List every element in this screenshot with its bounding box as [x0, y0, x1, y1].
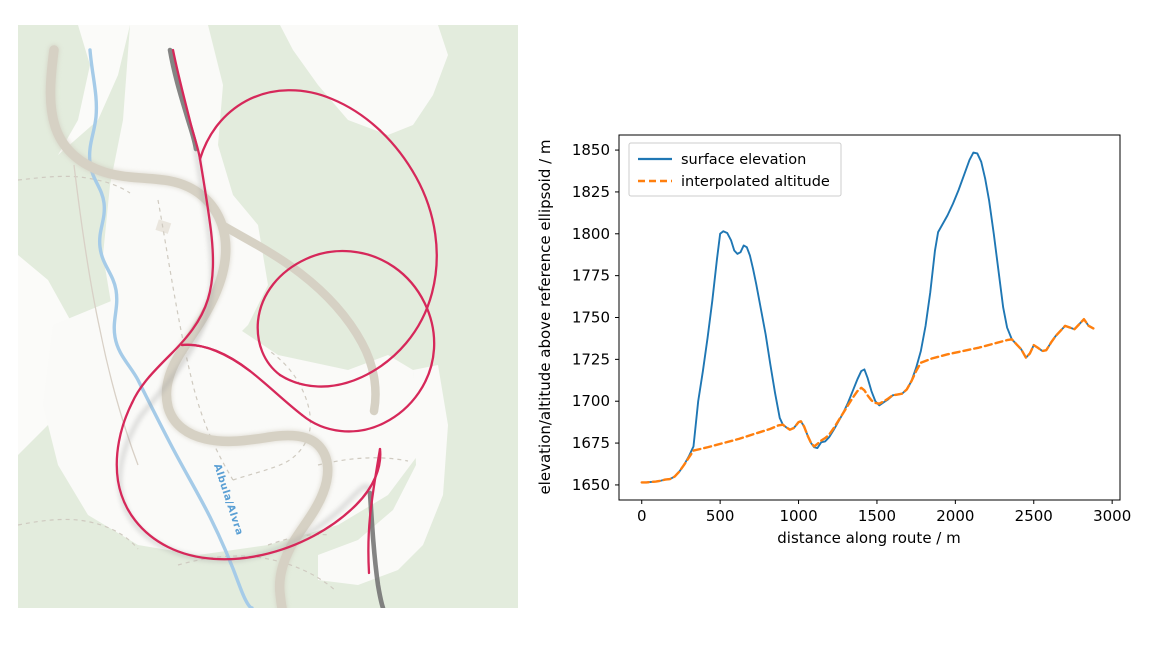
chart-canvas[interactable]: 050010001500200025003000 165016751700172… [530, 118, 1140, 563]
x-tick-label: 3000 [1093, 507, 1131, 525]
y-tick-label: 1650 [572, 476, 610, 494]
x-tick-label: 500 [706, 507, 735, 525]
elevation-profile-chart[interactable]: 050010001500200025003000 165016751700172… [530, 118, 1140, 563]
chart-legend[interactable]: surface elevation interpolated altitude [629, 143, 841, 196]
y-tick-label: 1825 [572, 183, 610, 201]
y-tick-label: 1850 [572, 141, 610, 159]
y-tick-label: 1725 [572, 350, 610, 368]
legend-label-surface-elevation: surface elevation [681, 152, 806, 168]
y-axis-ticks: 165016751700172517501775180018251850 [572, 141, 619, 494]
x-tick-label: 2000 [936, 507, 974, 525]
legend-label-interpolated-altitude: interpolated altitude [681, 174, 830, 190]
x-axis-title: distance along route / m [777, 529, 961, 547]
map-canvas[interactable]: Albula/Alvra [18, 25, 518, 608]
y-tick-label: 1750 [572, 309, 610, 327]
x-tick-label: 0 [637, 507, 647, 525]
x-tick-label: 2500 [1015, 507, 1053, 525]
y-tick-label: 1675 [572, 434, 610, 452]
y-tick-label: 1800 [572, 225, 610, 243]
x-tick-label: 1500 [858, 507, 896, 525]
map-panel[interactable]: Albula/Alvra [18, 25, 518, 608]
x-axis-ticks: 050010001500200025003000 [637, 500, 1131, 525]
y-tick-label: 1775 [572, 267, 610, 285]
y-axis-title: elevation/altitude above reference ellip… [536, 139, 554, 494]
y-tick-label: 1700 [572, 392, 610, 410]
x-tick-label: 1000 [779, 507, 817, 525]
